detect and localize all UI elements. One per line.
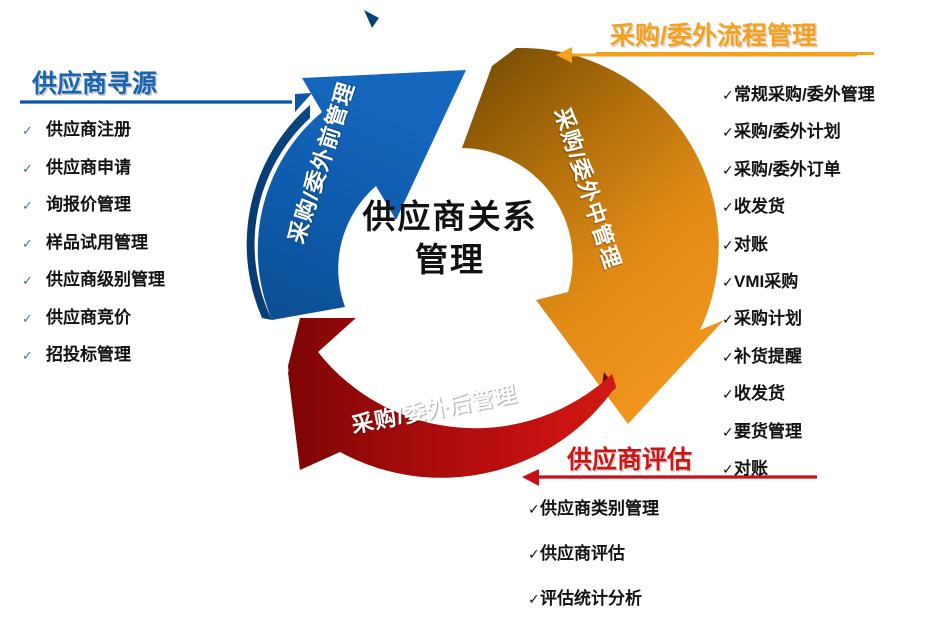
list-evaluation: ✓ 供应商类别管理 ✓ 供应商评估 ✓ 评估统计分析 [528,494,659,629]
list-item: ✓ 供应商申请 [22,153,165,178]
check-icon: ✓ [22,162,46,175]
list-item-label: 采购/委外订单 [734,155,841,180]
panel-title-process: 采购/委外流程管理 [610,16,817,52]
list-item: ✓ VMI采购 [722,267,875,292]
center-title-line1: 供应商关系 [330,196,570,239]
list-item: ✓ 采购计划 [722,304,875,329]
check-icon: ✓ [722,125,734,139]
check-icon: ✓ [722,387,734,401]
list-item-label: 供应商注册 [46,115,131,140]
list-item-label: 评估统计分析 [540,584,642,609]
list-item-label: 供应商级别管理 [46,265,165,290]
list-item-label: 常规采购/委外管理 [734,80,875,105]
panel-title-sourcing: 供应商寻源 [32,64,157,100]
check-icon: ✓ [722,163,734,177]
list-item-label: 供应商类别管理 [540,494,659,519]
list-sourcing: ✓ 供应商注册 ✓ 供应商申请 ✓ 询报价管理 ✓ 样品试用管理 ✓ 供应商级别… [22,115,165,378]
list-item-label: 询报价管理 [46,190,131,215]
list-item-label: 供应商评估 [540,539,625,564]
list-item-label: VMI采购 [734,267,798,292]
check-icon: ✓ [22,312,46,325]
center-title: 供应商关系 管理 [330,196,570,282]
check-icon: ✓ [722,238,734,252]
list-item-label: 供应商申请 [46,153,131,178]
list-item: ✓ 供应商注册 [22,115,165,140]
check-icon: ✓ [528,547,540,561]
list-item-label: 对账 [734,230,768,255]
list-item: ✓ 收发货 [722,192,875,217]
list-item: ✓ 询报价管理 [22,190,165,215]
list-item-label: 收发货 [734,379,785,404]
list-item-label: 样品试用管理 [46,228,148,253]
panel-title-process-underline [596,52,874,55]
list-item: ✓ 补货提醒 [722,342,875,367]
list-item-label: 供应商竞价 [46,303,131,328]
center-title-line2: 管理 [330,239,570,282]
list-item-label: 采购计划 [734,304,802,329]
list-item: ✓ 招投标管理 [22,340,165,365]
list-item-label: 要货管理 [734,417,802,442]
check-icon: ✓ [528,592,540,606]
check-icon: ✓ [22,237,46,250]
check-icon: ✓ [722,462,734,476]
check-icon: ✓ [722,350,734,364]
list-item-label: 对账 [734,454,768,479]
list-item-label: 招投标管理 [46,340,131,365]
diagram-canvas: 采购/委外前管理 采购/委外中管理 采购/委外后管理 供应商关系 管理 供应商寻… [0,0,939,601]
check-icon: ✓ [528,502,540,516]
list-item-label: 收发货 [734,192,785,217]
list-item: ✓ 供应商评估 [528,539,659,564]
check-icon: ✓ [722,275,734,289]
list-item: ✓ 采购/委外订单 [722,155,875,180]
check-icon: ✓ [22,349,46,362]
list-item: ✓ 采购/委外计划 [722,117,875,142]
check-icon: ✓ [722,88,734,102]
list-item: ✓ 收发货 [722,379,875,404]
list-item: ✓ 供应商级别管理 [22,265,165,290]
list-item: ✓ 常规采购/委外管理 [722,80,875,105]
list-process: ✓ 常规采购/委外管理 ✓ 采购/委外计划 ✓ 采购/委外订单 ✓ 收发货 ✓ … [722,80,875,491]
list-item-label: 采购/委外计划 [734,117,841,142]
list-item: ✓ 评估统计分析 [528,584,659,609]
check-icon: ✓ [22,124,46,137]
check-icon: ✓ [722,312,734,326]
list-item: ✓ 供应商类别管理 [528,494,659,519]
list-item: ✓ 对账 [722,230,875,255]
list-item: ✓ 供应商竞价 [22,303,165,328]
check-icon: ✓ [22,274,46,287]
check-icon: ✓ [722,425,734,439]
panel-title-evaluation: 供应商评估 [567,440,692,476]
list-item-label: 补货提醒 [734,342,802,367]
list-item: ✓ 样品试用管理 [22,228,165,253]
check-icon: ✓ [22,199,46,212]
list-item: ✓ 要货管理 [722,417,875,442]
list-item: ✓ 对账 [722,454,875,479]
check-icon: ✓ [722,200,734,214]
